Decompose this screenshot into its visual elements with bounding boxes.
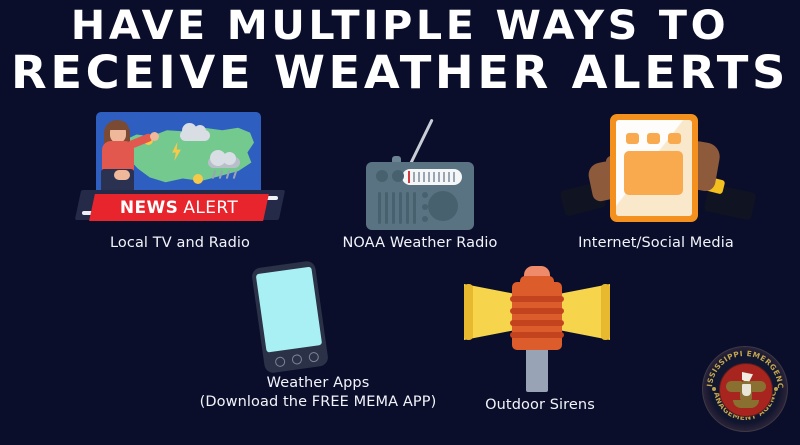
weather-alerts-poster: Have Multiple Ways To Receive Weather Al… xyxy=(0,0,800,445)
seal-star xyxy=(712,387,716,391)
radio-grille-slat xyxy=(406,192,409,224)
siren-pole xyxy=(526,348,548,392)
radio-icon xyxy=(330,112,510,232)
seal-inner-disc xyxy=(719,363,773,417)
item-noaa-weather-radio: NOAA Weather Radio xyxy=(330,112,510,262)
seal-star xyxy=(774,387,778,391)
phone-screen[interactable] xyxy=(256,267,322,353)
tablet-screen[interactable] xyxy=(616,120,692,216)
phone-back-button[interactable] xyxy=(308,351,319,362)
radio-speaker xyxy=(428,191,458,221)
poster-title: Have Multiple Ways To Receive Weather Al… xyxy=(0,6,800,95)
caption-noaa-weather-radio: NOAA Weather Radio xyxy=(330,234,510,253)
seal-base xyxy=(733,400,759,408)
item-internet-social-media: Internet/Social Media xyxy=(556,112,756,262)
smartphone-icon xyxy=(178,262,458,374)
news-label: NEWS xyxy=(120,198,178,218)
tuner-indicator xyxy=(408,171,410,183)
tuner-tick xyxy=(438,172,440,182)
item-outdoor-sirens: Outdoor Sirens xyxy=(440,262,640,412)
app-dot[interactable] xyxy=(626,133,639,144)
presenter-hand xyxy=(150,132,159,141)
tuner-tick xyxy=(443,172,445,182)
app-dot[interactable] xyxy=(668,133,681,144)
cloud-puff xyxy=(194,125,206,137)
siren-horn-icon xyxy=(440,262,640,394)
radio-grille-slat xyxy=(378,192,381,224)
mema-seal: MISSISSIPPI EMERGENCY MANAGEMENT AGENCY xyxy=(702,346,788,432)
sun-icon xyxy=(193,174,203,184)
radio-button[interactable] xyxy=(422,216,428,222)
siren-ridge xyxy=(510,308,564,314)
siren-ridge xyxy=(510,320,564,326)
tuner-tick xyxy=(418,172,420,182)
radio-button[interactable] xyxy=(422,192,428,198)
presenter-fringe xyxy=(108,121,128,130)
tv-weather-broadcast-icon: NEWS ALERT xyxy=(76,112,284,222)
siren-ridge xyxy=(510,296,564,302)
radio-grille-slat xyxy=(413,192,416,224)
seal-eagle-wing-right xyxy=(750,381,766,392)
caption-outdoor-sirens: Outdoor Sirens xyxy=(440,396,640,415)
tuner-tick xyxy=(413,172,415,182)
radio-grille-slat xyxy=(385,192,388,224)
phone-body xyxy=(251,260,329,374)
app-dot[interactable] xyxy=(647,133,660,144)
tablet-hands-icon xyxy=(556,112,756,232)
tuner-tick xyxy=(428,172,430,182)
alert-label: ALERT xyxy=(183,198,238,218)
caption-weather-apps-line1: Weather Apps xyxy=(267,375,370,391)
content-block xyxy=(624,151,683,195)
radio-grille-slat xyxy=(399,192,402,224)
caption-internet-social-media: Internet/Social Media xyxy=(556,234,756,253)
caption-weather-apps: Weather Apps (Download the FREE MEMA APP… xyxy=(178,374,458,412)
radio-tuner-display xyxy=(402,169,462,185)
radio-knob[interactable] xyxy=(392,170,404,182)
siren-ridge xyxy=(510,332,564,338)
tuner-tick xyxy=(453,172,455,182)
siren-cylinder xyxy=(512,282,562,350)
title-line-2: Receive Weather Alerts xyxy=(0,50,800,95)
tuner-tick xyxy=(448,172,450,182)
presenter-hand xyxy=(114,170,130,180)
news-alert-text: NEWS ALERT xyxy=(92,194,266,221)
caption-weather-apps-line2: (Download the FREE MEMA APP) xyxy=(200,394,437,410)
seal-shield xyxy=(742,384,751,396)
phone-nav-button[interactable] xyxy=(274,356,285,367)
siren-horn-rim-left xyxy=(464,284,473,340)
phone-home-button[interactable] xyxy=(291,354,302,365)
cloud-puff xyxy=(223,152,236,165)
item-weather-apps: Weather Apps (Download the FREE MEMA APP… xyxy=(178,262,458,427)
radio-grille-slat xyxy=(392,192,395,224)
item-local-tv-radio: NEWS ALERT Local TV and Radio xyxy=(76,112,284,262)
title-line-1: Have Multiple Ways To xyxy=(0,6,800,46)
tuner-tick xyxy=(433,172,435,182)
siren-horn-rim-right xyxy=(601,284,610,340)
caption-local-tv-radio: Local TV and Radio xyxy=(76,234,284,253)
tv-screen xyxy=(96,112,261,194)
radio-knob[interactable] xyxy=(376,170,388,182)
radio-antenna xyxy=(408,119,433,167)
tuner-tick xyxy=(423,172,425,182)
